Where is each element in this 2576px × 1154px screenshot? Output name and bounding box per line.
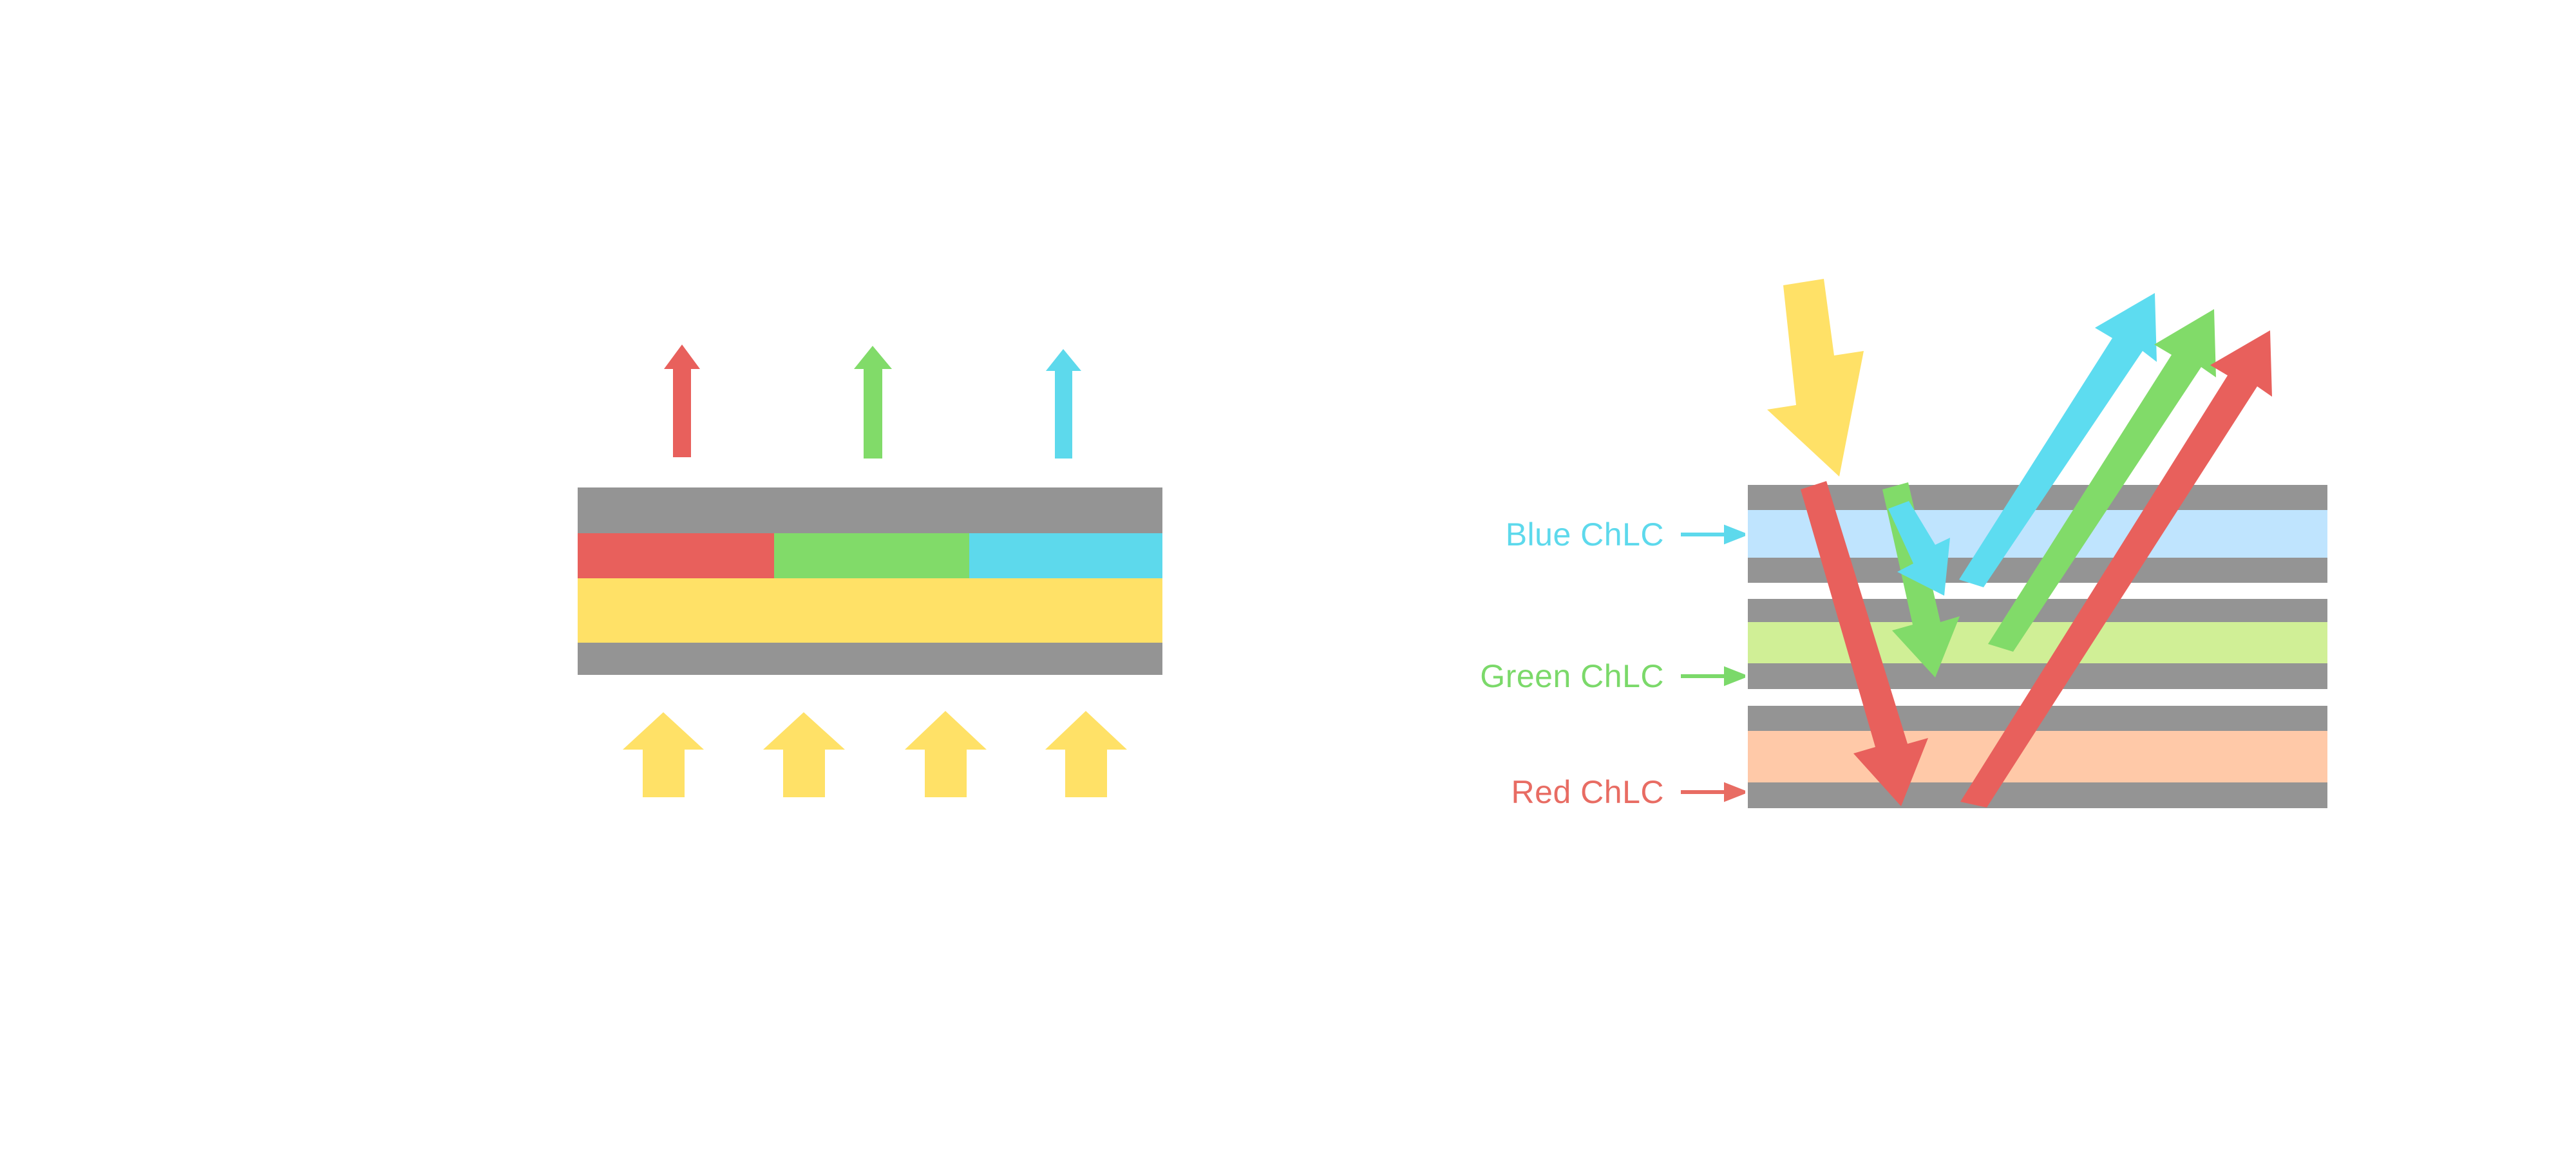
green-label-arrow-icon [1681, 665, 1745, 687]
red-emission-arrow [664, 345, 700, 457]
bottom-gray-substrate [578, 643, 1162, 675]
blue-filter-segment [969, 533, 1162, 578]
red-filter-segment [578, 533, 774, 578]
figure-stage: Blue ChLC Green ChLC Red ChLC [0, 0, 2576, 1154]
green-chlc-label: Green ChLC [1480, 657, 1664, 695]
color-filter-stack-panel [0, 0, 1288, 1154]
red-chlc-layer [1748, 731, 2327, 782]
blue-chlc-label-row: Blue ChLC [1506, 515, 1745, 554]
backlight-arrows [623, 711, 1127, 797]
green-chlc-layer [1748, 622, 2327, 663]
backlight-arrow [763, 712, 845, 797]
red-chlc-label: Red ChLC [1511, 773, 1664, 811]
color-filter-stack-graphic [0, 0, 1288, 1154]
yellow-backlight-layer [578, 578, 1162, 643]
filter-stack-layers [578, 487, 1162, 675]
stacked-chlc-panel: Blue ChLC Green ChLC Red ChLC [1288, 0, 2576, 1154]
blue-emission-arrow [1046, 349, 1081, 459]
top-gray-substrate [578, 487, 1162, 533]
green-chlc-label-row: Green ChLC [1480, 657, 1745, 695]
emitted-light-arrows [664, 345, 1081, 459]
red-label-arrow-icon [1681, 781, 1745, 803]
blue-label-arrow-icon [1681, 524, 1745, 545]
red-chlc-label-row: Red ChLC [1511, 773, 1745, 811]
ambient-white-light-arrow [1767, 279, 1864, 477]
red-cell-bottom-electrode [1748, 782, 2327, 808]
blue-chlc-label: Blue ChLC [1506, 516, 1664, 553]
backlight-arrow [905, 711, 987, 797]
green-emission-arrow [854, 346, 892, 459]
stacked-chlc-graphic [1288, 0, 2576, 1154]
green-filter-segment [774, 533, 969, 578]
backlight-arrow [1045, 711, 1127, 797]
backlight-arrow [623, 712, 704, 797]
